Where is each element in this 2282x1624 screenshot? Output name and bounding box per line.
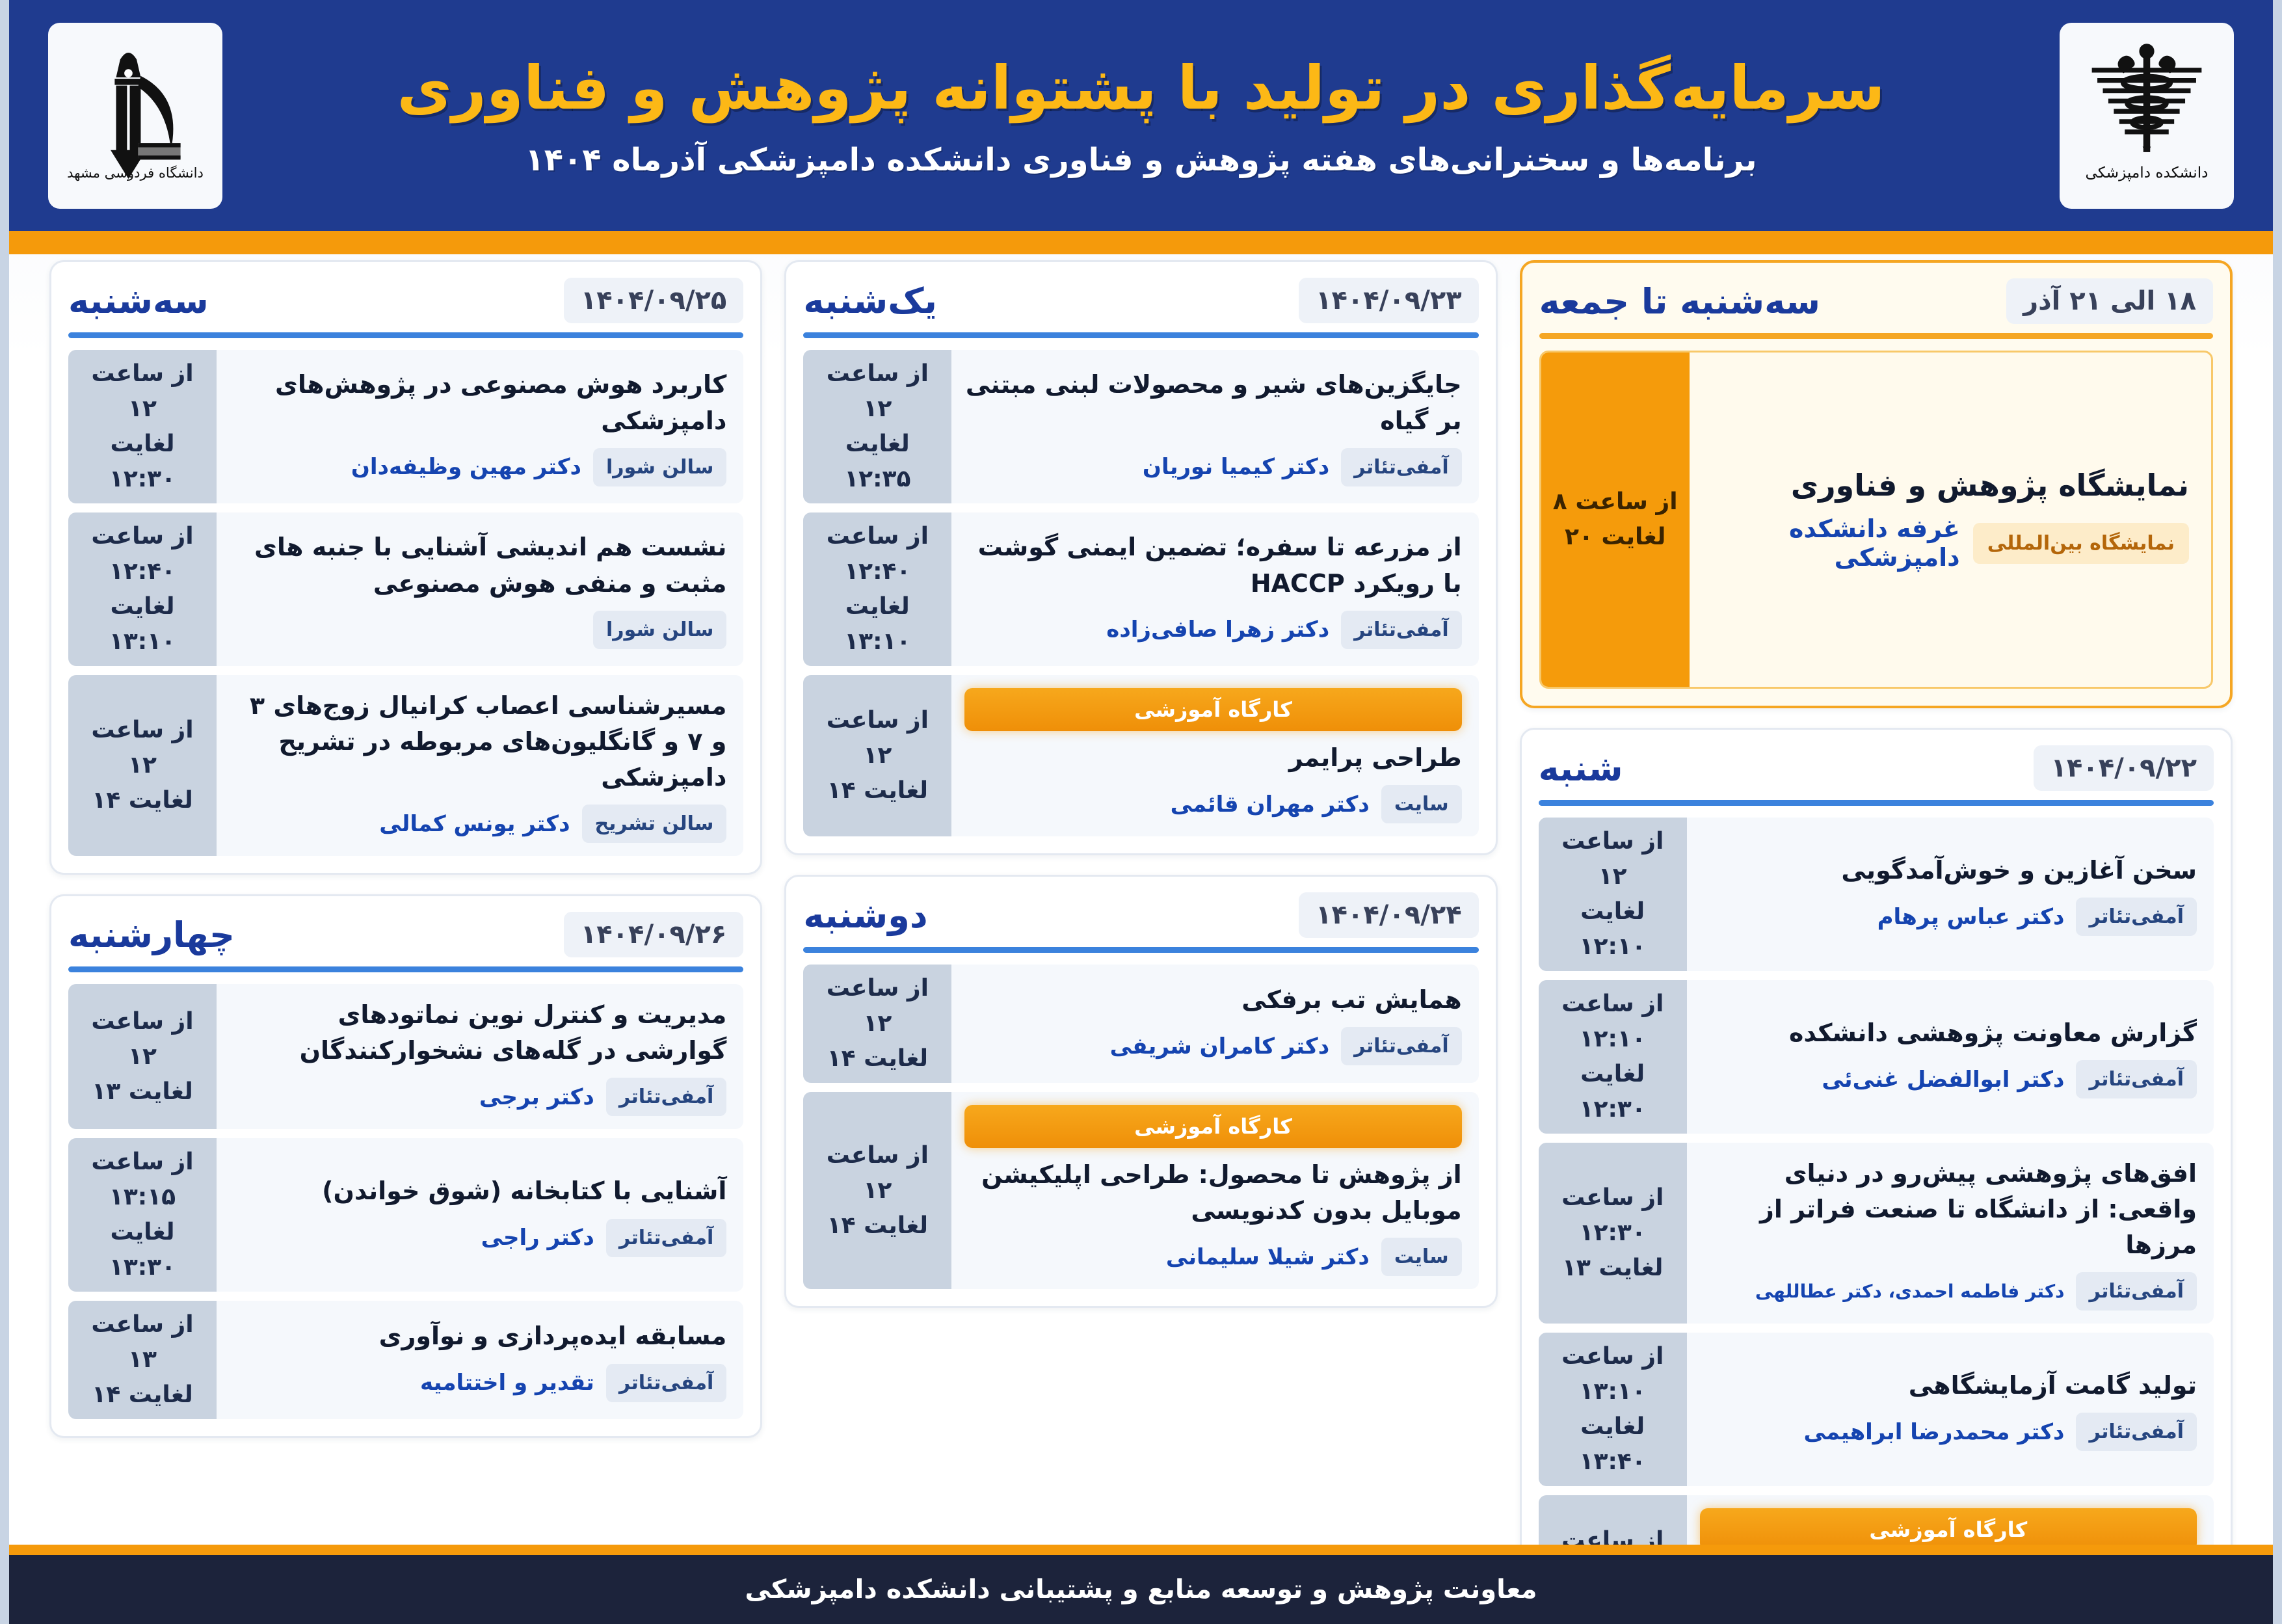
- event-body: نشست هم اندیشی آشنایی با جنبه های مثبت و…: [217, 512, 743, 666]
- day-date-badge: ۱۴۰۴/۰۹/۲۴: [1299, 892, 1479, 938]
- event-list: همایش تب برفکیآمفی‌تئاتردکتر کامران شریف…: [803, 965, 1478, 1289]
- event-venue-tag[interactable]: سایت: [1381, 785, 1462, 823]
- event-title: مسابقه ایده‌پردازی و نوآوری: [230, 1318, 726, 1354]
- day-card-header: ۱۴۰۴/۰۹/۲۶چهارشنبه: [68, 912, 743, 966]
- day-date-badge: ۱۴۰۴/۰۹/۲۶: [564, 912, 744, 957]
- event-body: همایش تب برفکیآمفی‌تئاتردکتر کامران شریف…: [951, 965, 1478, 1083]
- day-divider: [803, 947, 1478, 953]
- event-body: مدیریت و کنترل نوین نماتودهای گوارشی در …: [217, 984, 743, 1129]
- workshop-badge: کارگاه آموزشی: [964, 1105, 1461, 1148]
- event-body: جایگزین‌های شیر و محصولات لبنی مبتنی بر …: [951, 350, 1478, 503]
- event-speaker: دکتر مهران قائمی: [964, 792, 1370, 818]
- event-speaker: تقدیر و اختتامیه: [230, 1370, 594, 1396]
- event-footer: آمفی‌تئاتردکتر ابوالفضل غنی‌ئی: [1700, 1060, 2197, 1098]
- event-row[interactable]: آشنایی با کتابخانه (شوق خواندن)آمفی‌تئات…: [68, 1138, 743, 1292]
- day-card-header: ۱۸ الی ۲۱ آذرسه‌شنبه تا جمعه: [1539, 278, 2213, 333]
- exhibition-item[interactable]: نمایشگاه پژوهش و فناورینمایشگاه بین‌المل…: [1539, 351, 2213, 689]
- event-footer: سالن تشریحدکتر یونس کمالی: [230, 805, 726, 843]
- event-speaker: دکتر کامران شریفی: [964, 1033, 1329, 1059]
- exhibition-footer: نمایشگاه بین‌المللیغرفه دانشکده دامپزشکی: [1712, 514, 2189, 572]
- event-time: از ساعت ۱۲:۱۰لغایت ۱۲:۳۰: [1539, 980, 1687, 1134]
- event-speaker: دکتر فاطمه احمدی، دکتر عطاللهی: [1700, 1281, 2065, 1302]
- poster-header: دانشکده دامپزشکی سرمایه‌گذاری در تولید ب…: [9, 0, 2273, 231]
- event-title: جایگزین‌های شیر و محصولات لبنی مبتنی بر …: [964, 367, 1461, 438]
- event-time: از ساعت ۱۲:۴۰لغایت ۱۳:۱۰: [68, 512, 217, 666]
- event-time-from: از ساعت ۱۲: [808, 356, 946, 427]
- event-time-to: لغایت ۱۳: [1562, 1251, 1663, 1286]
- schedule-column-2: ۱۴۰۴/۰۹/۲۳یک‌شنبهجایگزین‌های شیر و محصول…: [784, 260, 1497, 1624]
- event-time-from: از ساعت ۱۳: [73, 1307, 211, 1378]
- event-time-from: از ساعت ۱۳:۱۵: [73, 1145, 211, 1215]
- event-footer: سایتدکتر مهران قائمی: [964, 785, 1461, 823]
- event-speaker: دکتر برجی: [230, 1084, 594, 1110]
- event-row[interactable]: تولید گامت آزمایشگاهیآمفی‌تئاتردکتر محمد…: [1539, 1333, 2214, 1486]
- schedule-column-3: ۱۴۰۴/۰۹/۲۵سه‌شنبهکاربرد هوش مصنوعی در پژ…: [49, 260, 762, 1624]
- event-title: گزارش معاونت پژوهشی دانشکده: [1700, 1015, 2197, 1051]
- event-venue-tag[interactable]: سالن شورا: [593, 448, 726, 486]
- event-row[interactable]: همایش تب برفکیآمفی‌تئاتردکتر کامران شریف…: [803, 965, 1478, 1083]
- event-time-from: از ساعت ۱۲: [808, 971, 946, 1041]
- event-title: افق‌های پژوهشی پیش‌رو در دنیای واقعی: از…: [1700, 1156, 2197, 1263]
- day-divider: [1539, 333, 2213, 339]
- day-divider: [803, 332, 1478, 338]
- event-list: سخن آغازین و خوش‌آمدگوییآمفی‌تئاتردکتر ع…: [1539, 818, 2214, 1624]
- event-time: از ساعت ۱۳:۱۵لغایت ۱۳:۳۰: [68, 1138, 217, 1292]
- vet-faculty-logo: دانشکده دامپزشکی: [2060, 23, 2234, 209]
- event-time-to: لغایت ۱۴: [827, 1208, 928, 1244]
- workshop-badge: کارگاه آموزشی: [964, 688, 1461, 731]
- day-card-header: ۱۴۰۴/۰۹/۲۳یک‌شنبه: [803, 278, 1478, 332]
- event-venue-tag[interactable]: آمفی‌تئاتر: [2076, 1413, 2197, 1451]
- event-venue-tag[interactable]: آمفی‌تئاتر: [1341, 611, 1462, 649]
- event-time: از ساعت ۱۳:۱۰لغایت ۱۳:۴۰: [1539, 1333, 1687, 1486]
- event-footer: آمفی‌تئاتردکتر محمدرضا ابراهیمی: [1700, 1413, 2197, 1451]
- event-row[interactable]: افق‌های پژوهشی پیش‌رو در دنیای واقعی: از…: [1539, 1143, 2214, 1324]
- event-body: سخن آغازین و خوش‌آمدگوییآمفی‌تئاتردکتر ع…: [1687, 818, 2214, 971]
- poster-footer: معاونت پژوهش و توسعه منابع و پشتیبانی دا…: [9, 1545, 2273, 1624]
- ferdowsi-university-logo: دانشگاه فردوسی مشهد: [48, 23, 222, 209]
- day-name: شنبه: [1539, 748, 1623, 789]
- event-title: کاربرد هوش مصنوعی در پژوهش‌های دامپزشکی: [230, 367, 726, 438]
- event-row[interactable]: جایگزین‌های شیر و محصولات لبنی مبتنی بر …: [803, 350, 1478, 503]
- event-time: از ساعت ۱۳لغایت ۱۴: [68, 1301, 217, 1419]
- event-time-to: لغایت ۱۲:۳۵: [808, 427, 946, 497]
- event-body: تولید گامت آزمایشگاهیآمفی‌تئاتردکتر محمد…: [1687, 1333, 2214, 1486]
- event-time-from: از ساعت ۱۲: [808, 703, 946, 773]
- event-speaker: دکتر ابوالفضل غنی‌ئی: [1700, 1067, 2065, 1093]
- event-speaker: دکتر شیلا سلیمانی: [964, 1244, 1370, 1270]
- event-speaker: دکتر راجی: [230, 1225, 594, 1251]
- event-venue-tag[interactable]: سالن شورا: [593, 611, 726, 649]
- caduceus-icon: دانشکده دامپزشکی: [2077, 40, 2216, 191]
- day-card-sunday: ۱۴۰۴/۰۹/۲۳یک‌شنبهجایگزین‌های شیر و محصول…: [784, 260, 1497, 855]
- event-row[interactable]: سخن آغازین و خوش‌آمدگوییآمفی‌تئاتردکتر ع…: [1539, 818, 2214, 971]
- event-title: طراحی پرایمر: [964, 740, 1461, 776]
- event-time: از ساعت ۱۲لغایت ۱۲:۳۰: [68, 350, 217, 503]
- event-title: همایش تب برفکی: [964, 982, 1461, 1018]
- event-row[interactable]: کارگاه آموزشیاز پژوهش تا محصول: طراحی اپ…: [803, 1092, 1478, 1289]
- event-time-from: از ساعت ۱۲:۴۰: [73, 519, 211, 589]
- event-row[interactable]: گزارش معاونت پژوهشی دانشکدهآمفی‌تئاتردکت…: [1539, 980, 2214, 1134]
- day-card-header: ۱۴۰۴/۰۹/۲۴دوشنبه: [803, 892, 1478, 947]
- exhibition-body: نمایشگاه پژوهش و فناورینمایشگاه بین‌المل…: [1690, 353, 2211, 687]
- event-title: مسیرشناسی اعصاب کرانیال زوج‌های ۳ و ۷ و …: [230, 688, 726, 795]
- day-card-header: ۱۴۰۴/۰۹/۲۵سه‌شنبه: [68, 278, 743, 332]
- exhibition-time: از ساعت ۸لغایت ۲۰: [1541, 353, 1690, 687]
- exhibition-venue-tag[interactable]: نمایشگاه بین‌المللی: [1973, 523, 2189, 564]
- event-footer: آمفی‌تئاتردکتر عباس پرهام: [1700, 898, 2197, 936]
- event-title: تولید گامت آزمایشگاهی: [1700, 1368, 2197, 1404]
- event-body: گزارش معاونت پژوهشی دانشکدهآمفی‌تئاتردکت…: [1687, 980, 2214, 1134]
- event-time-from: از ساعت ۱۲: [73, 1004, 211, 1074]
- day-name: دوشنبه: [803, 895, 927, 936]
- event-time-to: لغایت ۱۲:۳۰: [73, 427, 211, 497]
- event-title: آشنایی با کتابخانه (شوق خواندن): [230, 1173, 726, 1209]
- day-card-tuesday: ۱۴۰۴/۰۹/۲۵سه‌شنبهکاربرد هوش مصنوعی در پژ…: [49, 260, 762, 875]
- day-name: یک‌شنبه: [803, 280, 937, 321]
- day-card-wednesday: ۱۴۰۴/۰۹/۲۶چهارشنبهمدیریت و کنترل نوین نم…: [49, 894, 762, 1438]
- event-time-from: از ساعت ۱۲:۴۰: [808, 519, 946, 589]
- event-time-to: لغایت ۱۳:۱۰: [808, 589, 946, 659]
- day-card-saturday: ۱۴۰۴/۰۹/۲۲شنبهسخن آغازین و خوش‌آمدگوییآم…: [1520, 728, 2233, 1624]
- event-body: افق‌های پژوهشی پیش‌رو در دنیای واقعی: از…: [1687, 1143, 2214, 1324]
- vet-faculty-logo-caption: دانشکده دامپزشکی: [2086, 163, 2209, 181]
- event-row[interactable]: نشست هم اندیشی آشنایی با جنبه های مثبت و…: [68, 512, 743, 666]
- day-date-badge: ۱۴۰۴/۰۹/۲۵: [564, 278, 744, 323]
- event-time-to: لغایت ۱۳:۴۰: [1544, 1409, 1682, 1480]
- event-footer: آمفی‌تئاتردکتر کیمیا نوریان: [964, 448, 1461, 486]
- exhibition-time-to: لغایت ۲۰: [1565, 520, 1665, 555]
- event-venue-tag[interactable]: آمفی‌تئاتر: [606, 1219, 727, 1257]
- event-footer: آمفی‌تئاتردکتر کامران شریفی: [964, 1027, 1461, 1065]
- day-date-badge: ۱۸ الی ۲۱ آذر: [2006, 278, 2213, 324]
- event-speaker: دکتر محمدرضا ابراهیمی: [1700, 1419, 2065, 1445]
- event-body: کارگاه آموزشیطراحی پرایمرسایتدکتر مهران …: [951, 675, 1478, 836]
- event-title: از مزرعه تا سفره؛ تضمین ایمنی گوشت با رو…: [964, 529, 1461, 601]
- event-venue-tag[interactable]: آمفی‌تئاتر: [2076, 1272, 2197, 1311]
- event-venue-tag[interactable]: آمفی‌تئاتر: [1341, 1027, 1462, 1065]
- event-time-from: از ساعت ۱۳:۱۰: [1544, 1339, 1682, 1409]
- event-row[interactable]: کارگاه آموزشیطراحی پرایمرسایتدکتر مهران …: [803, 675, 1478, 836]
- day-divider: [68, 332, 743, 338]
- event-speaker: دکتر یونس کمالی: [230, 811, 570, 837]
- event-speaker: دکتر زهرا صافی‌زاده: [964, 617, 1329, 643]
- ferdowsi-university-logo-caption: دانشگاه فردوسی مشهد: [67, 164, 204, 180]
- day-divider: [1539, 800, 2214, 806]
- day-date-badge: ۱۴۰۴/۰۹/۲۲: [2034, 745, 2214, 791]
- event-time: از ساعت ۱۲لغایت ۱۳: [68, 984, 217, 1129]
- event-venue-tag[interactable]: آمفی‌تئاتر: [606, 1364, 727, 1402]
- day-card-friday-exhibition: ۱۸ الی ۲۱ آذرسه‌شنبه تا جمعهنمایشگاه پژو…: [1520, 260, 2233, 708]
- day-name: چهارشنبه: [68, 914, 235, 955]
- event-time-from: از ساعت ۱۲: [1544, 824, 1682, 894]
- day-name: سه‌شنبه تا جمعه: [1539, 281, 1820, 322]
- event-list: جایگزین‌های شیر و محصولات لبنی مبتنی بر …: [803, 350, 1478, 836]
- event-time-from: از ساعت ۱۲: [73, 356, 211, 427]
- event-venue-tag[interactable]: آمفی‌تئاتر: [2076, 1060, 2197, 1098]
- day-divider: [68, 966, 743, 972]
- event-speaker: دکتر مهین وظیفه‌دان: [230, 454, 581, 480]
- event-footer: آمفی‌تئاتردکتر برجی: [230, 1078, 726, 1116]
- event-time-from: از ساعت ۱۲:۱۰: [1544, 987, 1682, 1057]
- event-footer: سایتدکتر شیلا سلیمانی: [964, 1238, 1461, 1276]
- event-row[interactable]: مدیریت و کنترل نوین نماتودهای گوارشی در …: [68, 984, 743, 1129]
- event-list: مدیریت و کنترل نوین نماتودهای گوارشی در …: [68, 984, 743, 1419]
- event-venue-tag[interactable]: سایت: [1381, 1238, 1462, 1276]
- event-body: از مزرعه تا سفره؛ تضمین ایمنی گوشت با رو…: [951, 512, 1478, 666]
- event-footer: آمفی‌تئاتردکتر زهرا صافی‌زاده: [964, 611, 1461, 649]
- day-card-monday: ۱۴۰۴/۰۹/۲۴دوشنبههمایش تب برفکیآمفی‌تئاتر…: [784, 875, 1497, 1308]
- footer-text: معاونت پژوهش و توسعه منابع و پشتیبانی دا…: [745, 1575, 1537, 1604]
- event-time: از ساعت ۱۲لغایت ۱۴: [68, 675, 217, 856]
- pen-and-book-icon: دانشگاه فردوسی مشهد: [66, 40, 205, 191]
- poster-page: دانشکده دامپزشکی سرمایه‌گذاری در تولید ب…: [0, 0, 2282, 1624]
- event-list: کاربرد هوش مصنوعی در پژوهش‌های دامپزشکیس…: [68, 350, 743, 856]
- exhibition-title: نمایشگاه پژوهش و فناوری: [1712, 468, 2189, 503]
- event-footer: سالن شورا: [230, 611, 726, 649]
- day-card-header: ۱۴۰۴/۰۹/۲۲شنبه: [1539, 745, 2214, 800]
- event-time-to: لغایت ۱۴: [827, 1041, 928, 1076]
- event-time: از ساعت ۱۲لغایت ۱۲:۳۵: [803, 350, 951, 503]
- event-time-to: لغایت ۱۲:۱۰: [1544, 894, 1682, 965]
- event-speaker: دکتر عباس پرهام: [1700, 904, 2065, 930]
- event-venue-tag[interactable]: آمفی‌تئاتر: [1341, 448, 1462, 486]
- day-name: سه‌شنبه: [68, 280, 209, 321]
- day-date-badge: ۱۴۰۴/۰۹/۲۳: [1299, 278, 1479, 323]
- page-title: سرمایه‌گذاری در تولید با پشتوانه پژوهش و…: [242, 53, 2040, 124]
- event-speaker: دکتر کیمیا نوریان: [964, 454, 1329, 480]
- header-text-block: سرمایه‌گذاری در تولید با پشتوانه پژوهش و…: [222, 53, 2060, 178]
- event-body: کاربرد هوش مصنوعی در پژوهش‌های دامپزشکیس…: [217, 350, 743, 503]
- schedule-column-1: ۱۸ الی ۲۱ آذرسه‌شنبه تا جمعهنمایشگاه پژو…: [1520, 260, 2233, 1624]
- event-time-from: از ساعت ۱۲: [808, 1138, 946, 1208]
- event-time-to: لغایت ۱۴: [92, 783, 192, 818]
- event-time: از ساعت ۱۲:۴۰لغایت ۱۳:۱۰: [803, 512, 951, 666]
- event-footer: آمفی‌تئاتردکتر فاطمه احمدی، دکتر عطاللهی: [1700, 1272, 2197, 1311]
- event-body: کارگاه آموزشیاز پژوهش تا محصول: طراحی اپ…: [951, 1092, 1478, 1289]
- page-subtitle: برنامه‌ها و سخنرانی‌های هفته پژوهش و فنا…: [242, 142, 2040, 178]
- event-row[interactable]: کاربرد هوش مصنوعی در پژوهش‌های دامپزشکیس…: [68, 350, 743, 503]
- event-row[interactable]: مسیرشناسی اعصاب کرانیال زوج‌های ۳ و ۷ و …: [68, 675, 743, 856]
- event-time: از ساعت ۱۲لغایت ۱۴: [803, 965, 951, 1083]
- event-body: مسیرشناسی اعصاب کرانیال زوج‌های ۳ و ۷ و …: [217, 675, 743, 856]
- event-time-to: لغایت ۱۲:۳۰: [1544, 1057, 1682, 1127]
- exhibition-subtitle: غرفه دانشکده دامپزشکی: [1712, 514, 1960, 572]
- event-footer: آمفی‌تئاتردکتر راجی: [230, 1219, 726, 1257]
- event-time: از ساعت ۱۲لغایت ۱۲:۱۰: [1539, 818, 1687, 971]
- event-venue-tag[interactable]: سالن تشریح: [582, 805, 727, 843]
- event-footer: آمفی‌تئاترتقدیر و اختتامیه: [230, 1364, 726, 1402]
- event-time-to: لغایت ۱۳: [92, 1074, 192, 1110]
- exhibition-time-from: از ساعت ۸: [1553, 485, 1678, 520]
- event-title: مدیریت و کنترل نوین نماتودهای گوارشی در …: [230, 997, 726, 1069]
- event-time-to: لغایت ۱۴: [92, 1378, 192, 1413]
- event-title: از پژوهش تا محصول: طراحی اپلیکیشن موبایل…: [964, 1157, 1461, 1229]
- event-title: نشست هم اندیشی آشنایی با جنبه های مثبت و…: [230, 529, 726, 601]
- event-row[interactable]: از مزرعه تا سفره؛ تضمین ایمنی گوشت با رو…: [803, 512, 1478, 666]
- event-time: از ساعت ۱۲لغایت ۱۴: [803, 1092, 951, 1289]
- event-venue-tag[interactable]: آمفی‌تئاتر: [606, 1078, 727, 1116]
- event-time: از ساعت ۱۲:۳۰لغایت ۱۳: [1539, 1143, 1687, 1324]
- event-time-from: از ساعت ۱۲:۳۰: [1544, 1180, 1682, 1251]
- event-row[interactable]: مسابقه ایده‌پردازی و نوآوریآمفی‌تئاترتقد…: [68, 1301, 743, 1419]
- event-time-to: لغایت ۱۳:۳۰: [73, 1215, 211, 1285]
- event-title: سخن آغازین و خوش‌آمدگویی: [1700, 853, 2197, 888]
- event-footer: سالن شورادکتر مهین وظیفه‌دان: [230, 448, 726, 486]
- schedule-board: ۱۸ الی ۲۱ آذرسه‌شنبه تا جمعهنمایشگاه پژو…: [9, 260, 2273, 1545]
- event-venue-tag[interactable]: آمفی‌تئاتر: [2076, 898, 2197, 936]
- event-body: آشنایی با کتابخانه (شوق خواندن)آمفی‌تئات…: [217, 1138, 743, 1292]
- event-time-to: لغایت ۱۳:۱۰: [73, 589, 211, 659]
- event-body: مسابقه ایده‌پردازی و نوآوریآمفی‌تئاترتقد…: [217, 1301, 743, 1419]
- event-time-to: لغایت ۱۴: [827, 773, 928, 808]
- event-time: از ساعت ۱۲لغایت ۱۴: [803, 675, 951, 836]
- event-time-from: از ساعت ۱۲: [73, 713, 211, 783]
